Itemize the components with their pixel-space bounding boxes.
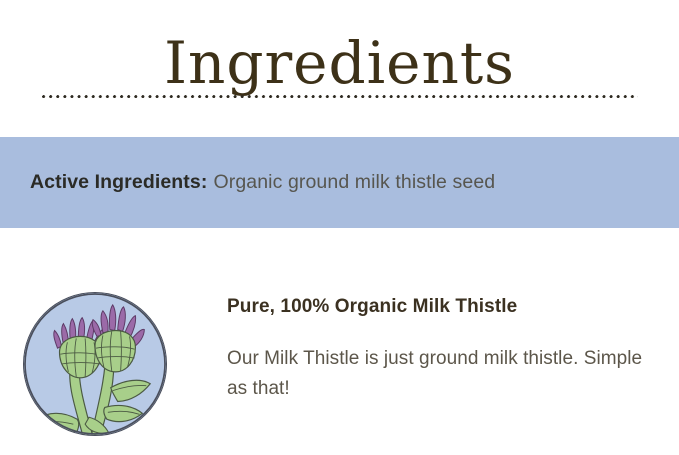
feature-heading: Pure, 100% Organic Milk Thistle xyxy=(227,285,667,320)
active-ingredients-value: Organic ground milk thistle seed xyxy=(213,171,495,194)
active-ingredients-label: Active Ingredients: xyxy=(30,171,207,194)
active-ingredients-text-row: Active Ingredients: Organic ground milk … xyxy=(30,137,495,228)
dotted-divider xyxy=(42,95,638,99)
active-ingredients-band: Active Ingredients: Organic ground milk … xyxy=(0,137,679,228)
milk-thistle-illustration-icon xyxy=(23,292,167,436)
feature-block: Pure, 100% Organic Milk Thistle Our Milk… xyxy=(0,285,679,455)
page-title: Ingredients xyxy=(164,27,515,99)
page-title-container: Ingredients xyxy=(0,0,679,138)
ingredients-panel: Ingredients Active Ingredients: Organic … xyxy=(0,0,679,455)
feature-body-text: Our Milk Thistle is just ground milk thi… xyxy=(227,320,659,404)
feature-text-column: Pure, 100% Organic Milk Thistle Our Milk… xyxy=(227,285,667,404)
